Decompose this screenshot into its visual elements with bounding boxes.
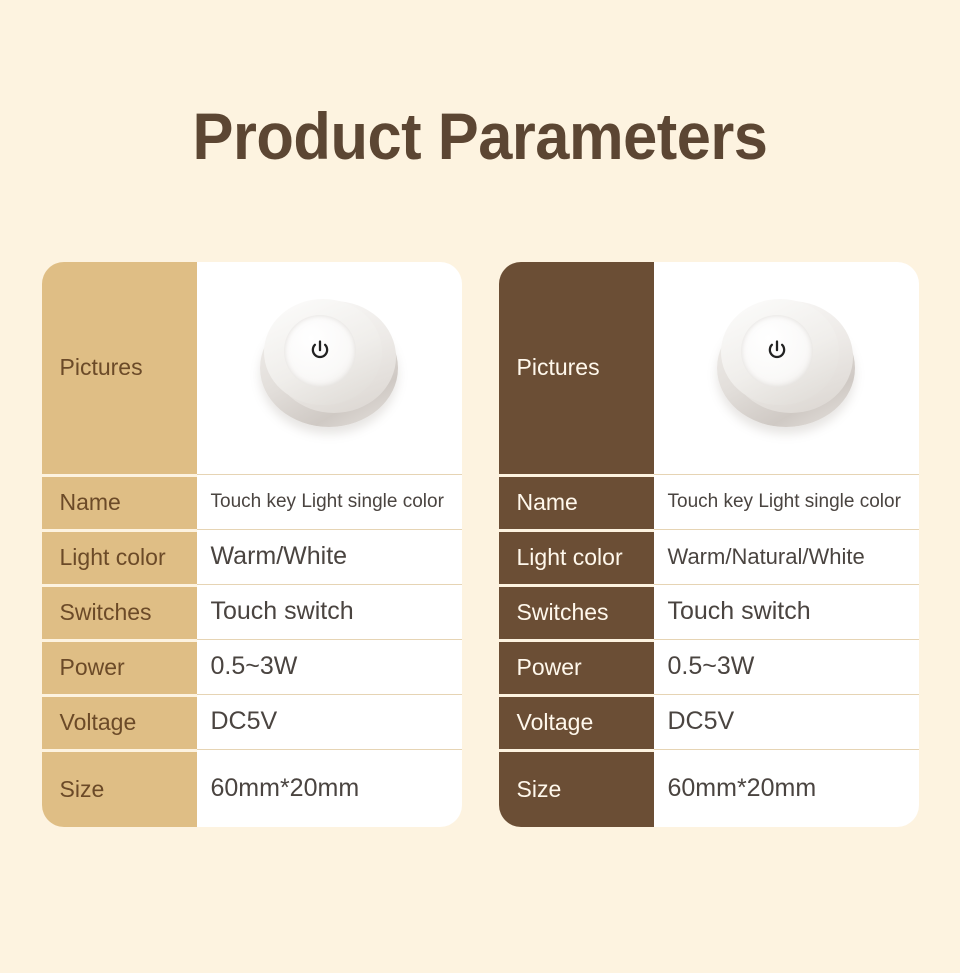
row-value-light-color: Warm/Natural/White <box>654 529 919 584</box>
row-value-switches: Touch switch <box>197 584 462 639</box>
page-title: Product Parameters <box>34 98 927 174</box>
row-label-size: Size <box>42 749 197 827</box>
row-value-size: 60mm*20mm <box>654 749 919 827</box>
row-value-voltage: DC5V <box>654 694 919 749</box>
row-label-name: Name <box>499 474 654 529</box>
table-row: Switches Touch switch <box>42 584 462 639</box>
row-label-voltage: Voltage <box>42 694 197 749</box>
row-label-switches: Switches <box>499 584 654 639</box>
table-row: Size 60mm*20mm <box>42 749 462 827</box>
table-row-pictures: Pictures <box>499 262 919 474</box>
spec-tables-container: Pictures Name Touch key Light sing <box>0 262 960 827</box>
row-label-light-color: Light color <box>499 529 654 584</box>
puck-touch-button <box>741 315 813 387</box>
table-row: Name Touch key Light single color <box>499 474 919 529</box>
spec-table-brown: Pictures Name Touch key Light sing <box>499 262 919 827</box>
row-label-voltage: Voltage <box>499 694 654 749</box>
row-label-light-color: Light color <box>42 529 197 584</box>
table-row: Switches Touch switch <box>499 584 919 639</box>
puck-touch-button <box>284 315 356 387</box>
product-puck-light <box>711 293 861 443</box>
row-value-product-image <box>654 262 919 474</box>
power-icon <box>307 338 333 364</box>
row-value-size: 60mm*20mm <box>197 749 462 827</box>
spec-table-tan: Pictures Name Touch key Light sing <box>42 262 462 827</box>
row-label-power: Power <box>499 639 654 694</box>
row-label-pictures: Pictures <box>499 262 654 474</box>
table-row: Power 0.5~3W <box>42 639 462 694</box>
table-row: Light color Warm/White <box>42 529 462 584</box>
row-label-switches: Switches <box>42 584 197 639</box>
table-row-pictures: Pictures <box>42 262 462 474</box>
power-icon <box>764 338 790 364</box>
row-label-size: Size <box>499 749 654 827</box>
row-value-light-color: Warm/White <box>197 529 462 584</box>
row-label-pictures: Pictures <box>42 262 197 474</box>
row-label-power: Power <box>42 639 197 694</box>
row-value-name: Touch key Light single color <box>197 474 462 529</box>
row-value-switches: Touch switch <box>654 584 919 639</box>
row-value-power: 0.5~3W <box>654 639 919 694</box>
table-row: Light color Warm/Natural/White <box>499 529 919 584</box>
product-puck-light <box>254 293 404 443</box>
table-row: Voltage DC5V <box>42 694 462 749</box>
row-value-product-image <box>197 262 462 474</box>
table-row: Name Touch key Light single color <box>42 474 462 529</box>
table-row: Power 0.5~3W <box>499 639 919 694</box>
row-label-name: Name <box>42 474 197 529</box>
row-value-voltage: DC5V <box>197 694 462 749</box>
row-value-name: Touch key Light single color <box>654 474 919 529</box>
row-value-power: 0.5~3W <box>197 639 462 694</box>
table-row: Size 60mm*20mm <box>499 749 919 827</box>
table-row: Voltage DC5V <box>499 694 919 749</box>
